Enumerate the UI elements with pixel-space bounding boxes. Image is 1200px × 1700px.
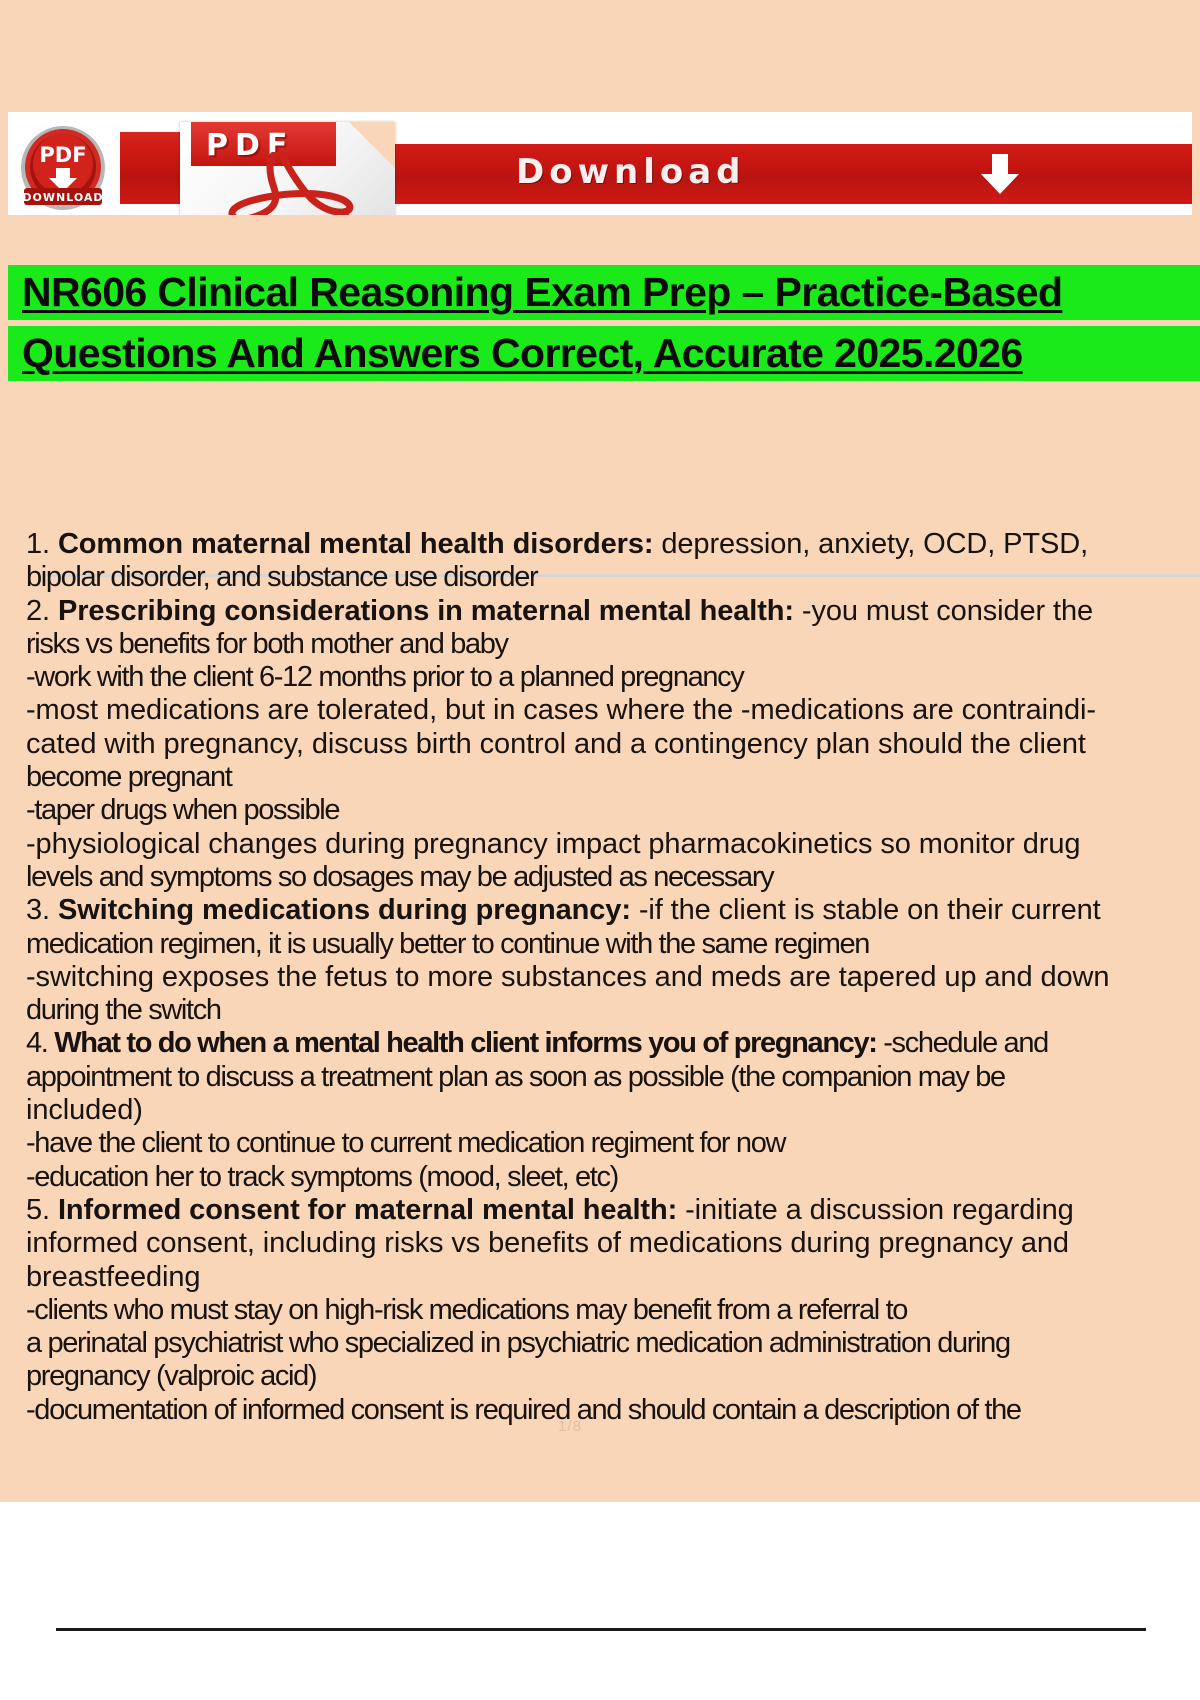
body-line: 5. Informed consent for maternal mental … [26,1194,1200,1227]
item-text: appointment to discuss a treatment plan … [26,1061,1005,1093]
item-text: cated with pregnancy, discuss birth cont… [26,728,1086,760]
pdf-download-banner[interactable]: PDF PDF DOWNLOAD Download [8,112,1192,215]
svg-text:PDF: PDF [39,143,86,167]
body-line: 4. What to do when a mental health clien… [26,1027,1200,1060]
item-number: 2. [26,595,58,627]
body-line: -clients who must stay on high-risk medi… [26,1294,1200,1327]
page-number: 1/8 [0,1418,1140,1435]
item-text: -if the client is stable on their curren… [631,894,1101,926]
body-line: included) [26,1094,1200,1127]
title-line-2: Questions And Answers Correct, Accurate … [8,326,1200,381]
download-label[interactable]: Download [516,152,746,192]
item-text: -you must consider the [794,595,1093,627]
body-line: -physiological changes during pregnancy … [26,828,1200,861]
item-text: pregnancy (valproic acid) [26,1360,316,1392]
document-page: PDF PDF DOWNLOAD Download NR606 Clinical… [0,0,1200,1700]
body-line: become pregnant [26,761,1200,794]
body-line: risks vs benefits for both mother and ba… [26,628,1200,661]
item-text: levels and symptoms so dosages may be ad… [26,861,773,893]
body-line: medication regimen, it is usually better… [26,928,1200,961]
body-line: during the switch [26,994,1200,1027]
item-text: -work with the client 6-12 months prior … [26,661,743,693]
item-text: become pregnant [26,761,231,793]
item-heading: Informed consent for maternal mental hea… [58,1194,677,1226]
body-line: informed consent, including risks vs ben… [26,1227,1200,1260]
document-title: NR606 Clinical Reasoning Exam Prep – Pra… [8,265,1200,381]
body-line: -work with the client 6-12 months prior … [26,661,1200,694]
body-line: cated with pregnancy, discuss birth cont… [26,728,1200,761]
body-line: pregnancy (valproic acid) [26,1360,1200,1393]
item-heading: Switching medications during pregnancy: [58,894,631,926]
item-number: 3. [26,894,58,926]
page-bottom-area [0,1502,1200,1700]
item-text: -initiate a discussion regarding [677,1194,1073,1226]
body-line: levels and symptoms so dosages may be ad… [26,861,1200,894]
body-line: -education her to track symptoms (mood, … [26,1161,1200,1194]
item-heading: Common maternal mental health disorders: [58,528,653,560]
item-number: 4. [26,1027,54,1059]
item-text: during the switch [26,994,221,1026]
document-body: 1. Common maternal mental health disorde… [26,528,1200,1427]
item-text: -clients who must stay on high-risk medi… [26,1294,907,1326]
item-text: medication regimen, it is usually better… [26,928,869,960]
bottom-divider [56,1628,1146,1631]
page-top-margin [0,0,1200,112]
body-line: a perinatal psychiatrist who specialized… [26,1327,1200,1360]
item-text: -taper drugs when possible [26,794,339,826]
body-line: breastfeeding [26,1261,1200,1294]
body-line: bipolar disorder, and substance use diso… [26,561,1200,594]
body-line: appointment to discuss a treatment plan … [26,1061,1200,1094]
item-number: 5. [26,1194,58,1226]
body-line: -have the client to continue to current … [26,1127,1200,1160]
body-line: -switching exposes the fetus to more sub… [26,961,1200,994]
item-text: -have the client to continue to current … [26,1127,785,1159]
download-arrow-icon[interactable] [976,152,1024,196]
svg-text:DOWNLOAD: DOWNLOAD [22,191,103,204]
acrobat-swoosh-icon [213,152,363,215]
item-text: -switching exposes the fetus to more sub… [26,961,1109,993]
body-line: 1. Common maternal mental health disorde… [26,528,1200,561]
item-text: breastfeeding [26,1261,200,1293]
item-text: informed consent, including risks vs ben… [26,1227,1069,1259]
item-text: -physiological changes during pregnancy … [26,828,1080,860]
item-heading: What to do when a mental health client i… [54,1027,876,1059]
item-text: -most medications are tolerated, but in … [26,694,1096,726]
item-text: a perinatal psychiatrist who specialized… [26,1327,1010,1359]
item-text: bipolar disorder, and substance use diso… [26,561,537,593]
body-line: -taper drugs when possible [26,794,1200,827]
item-text: risks vs benefits for both mother and ba… [26,628,508,660]
item-heading: Prescribing considerations in maternal m… [58,595,794,627]
body-line: -most medications are tolerated, but in … [26,694,1200,727]
item-text: -education her to track symptoms (mood, … [26,1161,618,1193]
item-text: included) [26,1094,143,1126]
pdf-download-badge-icon[interactable]: PDF DOWNLOAD [18,124,108,214]
body-line: 3. Switching medications during pregnanc… [26,894,1200,927]
title-line-1: NR606 Clinical Reasoning Exam Prep – Pra… [8,265,1200,320]
body-line: 2. Prescribing considerations in materna… [26,595,1200,628]
item-text: depression, anxiety, OCD, PTSD, [653,528,1088,560]
item-text: -schedule and [877,1027,1048,1059]
item-number: 1. [26,528,58,560]
